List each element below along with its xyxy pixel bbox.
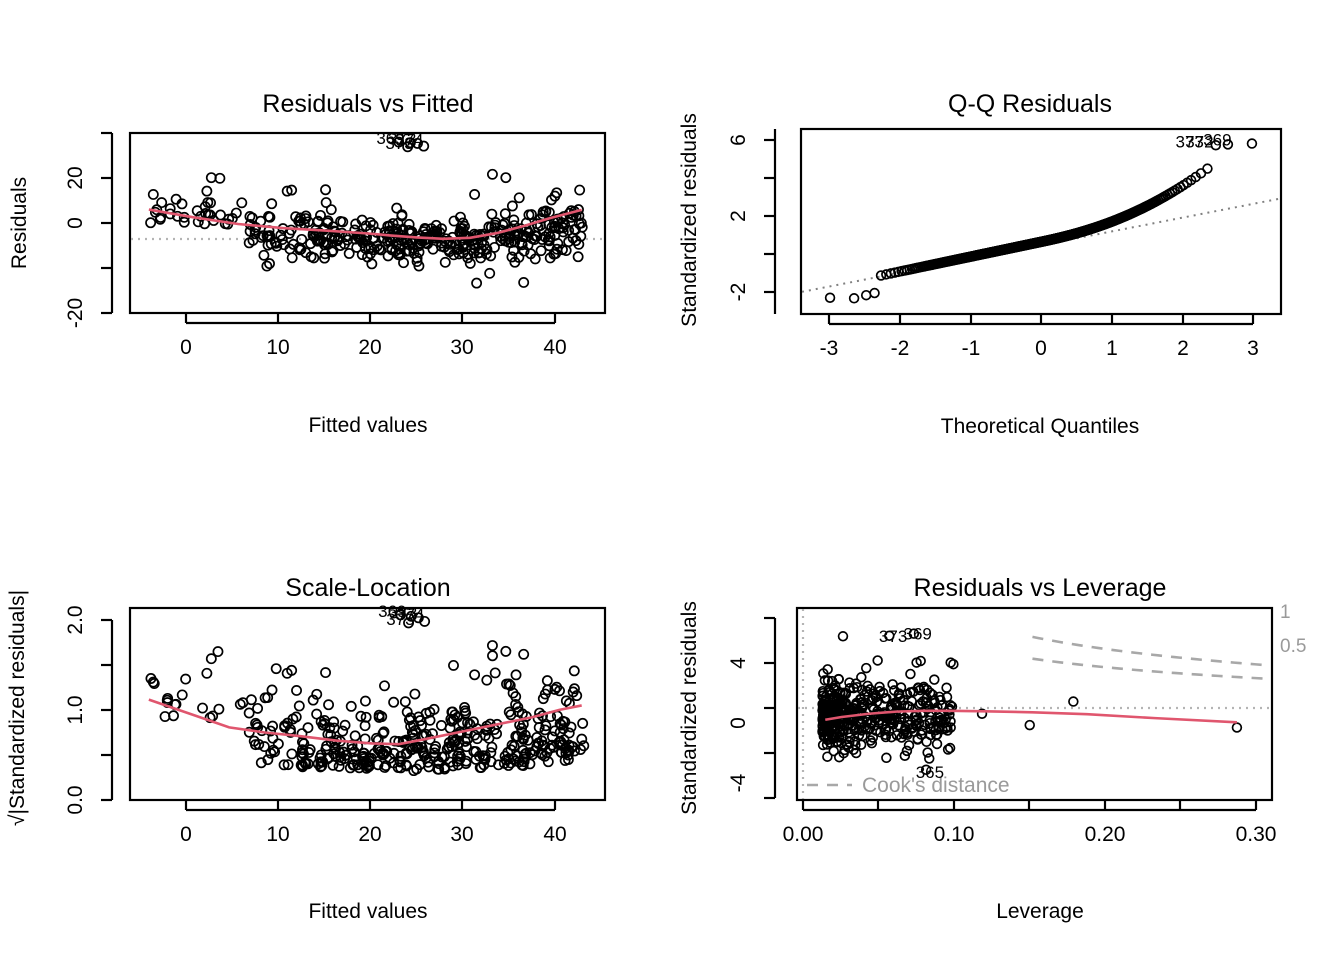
plot-title: Residuals vs Leverage	[914, 574, 1167, 602]
data-point	[888, 680, 897, 689]
data-point	[236, 700, 245, 709]
y-tick-label: 0	[64, 217, 87, 229]
data-point	[297, 235, 306, 244]
data-point	[401, 697, 410, 706]
data-point	[1069, 697, 1078, 706]
scale-location-svg: Scale-Location 2.0 1.0 0.0 √|Standardize…	[0, 540, 672, 960]
data-point	[146, 218, 155, 227]
point-labels: 369372374373	[376, 129, 423, 153]
data-point	[1248, 139, 1257, 148]
data-point	[488, 641, 497, 650]
x-axis-title: Fitted values	[308, 900, 427, 923]
x-tick-label: 3	[1247, 337, 1259, 360]
data-point	[505, 707, 514, 716]
point-label: 369	[904, 625, 932, 644]
data-point	[449, 661, 458, 670]
panel-scale-location: Scale-Location 2.0 1.0 0.0 √|Standardize…	[0, 540, 672, 960]
x-tick-label: 30	[450, 336, 473, 359]
data-point	[933, 740, 942, 749]
x-tick-label: 0.00	[783, 823, 824, 846]
data-point	[265, 259, 274, 268]
y-tick-label: 2	[727, 210, 750, 222]
data-point	[1025, 721, 1034, 730]
data-point	[501, 173, 510, 182]
data-point	[570, 666, 579, 675]
plot-title: Scale-Location	[285, 574, 450, 602]
x-tick-label: 10	[266, 823, 289, 846]
x-tick-label: 20	[358, 823, 381, 846]
data-point	[181, 674, 190, 683]
data-point	[262, 261, 271, 270]
y-tick-label: 0	[727, 717, 750, 729]
panel-residuals-vs-leverage: Residuals vs Leverage 4 0 -4 Standardize…	[672, 540, 1344, 960]
y-tick-label: 0.0	[64, 785, 87, 814]
point-labels: 373372369	[1176, 131, 1232, 152]
y-axis: 4 0 -4 Standardized residuals	[678, 601, 775, 815]
data-point	[882, 753, 891, 762]
panel-residuals-vs-fitted: Residuals vs Fitted 20 0 -20 Residuals	[0, 60, 672, 480]
x-tick-label: 0.30	[1236, 823, 1277, 846]
data-point	[862, 291, 871, 300]
x-tick-label: 0.10	[934, 823, 975, 846]
x-tick-label: 1	[1106, 337, 1118, 360]
data-point	[351, 731, 360, 740]
data-point	[389, 698, 398, 707]
y-tick-label: 6	[727, 134, 750, 146]
data-point	[314, 217, 323, 226]
data-point	[321, 185, 330, 194]
qq-residuals-svg: Q-Q Residuals 6 2 -2 Standardized residu…	[672, 60, 1344, 480]
data-point	[485, 269, 494, 278]
data-point	[905, 741, 914, 750]
data-point	[482, 676, 491, 685]
data-point	[1233, 723, 1242, 732]
data-point	[202, 186, 211, 195]
data-point	[149, 190, 158, 199]
data-point	[1203, 164, 1212, 173]
data-point	[906, 670, 915, 679]
data-point	[923, 748, 932, 757]
data-point	[574, 252, 583, 261]
x-axis: 0.00 0.10 0.20 0.30 Leverage	[783, 799, 1277, 923]
data-point	[295, 701, 304, 710]
y-tick-label: -2	[727, 283, 750, 302]
x-tick-label: 20	[358, 336, 381, 359]
data-point	[216, 210, 225, 219]
data-point	[873, 656, 882, 665]
data-point	[930, 675, 939, 684]
x-tick-label: 2	[1177, 337, 1189, 360]
data-point	[259, 251, 268, 260]
x-tick-label: 40	[543, 823, 566, 846]
data-point	[437, 721, 446, 730]
data-point	[826, 293, 835, 302]
data-point	[466, 259, 475, 268]
residuals-vs-fitted-svg: Residuals vs Fitted 20 0 -20 Residuals	[0, 60, 672, 480]
data-point	[870, 289, 879, 298]
data-point	[925, 754, 934, 763]
data-point	[519, 650, 528, 659]
data-point	[345, 249, 354, 258]
x-tick-label: 40	[543, 336, 566, 359]
data-point	[491, 668, 500, 677]
data-point	[157, 198, 166, 207]
y-axis-title: Standardized residuals	[678, 113, 701, 327]
data-point	[324, 700, 333, 709]
data-point	[515, 193, 524, 202]
data-point	[829, 747, 838, 756]
data-point	[441, 258, 450, 267]
x-tick-label: 30	[450, 823, 473, 846]
y-tick-label: -4	[727, 773, 750, 792]
x-axis: 0 10 20 30 40 Fitted values	[180, 312, 567, 437]
x-axis-title: Fitted values	[308, 414, 427, 437]
data-point	[428, 245, 437, 254]
point-label: 373	[385, 134, 413, 153]
plot-title: Residuals vs Fitted	[262, 90, 473, 118]
data-point	[347, 702, 356, 711]
y-axis: 6 2 -2 Standardized residuals	[678, 113, 775, 327]
data-point	[178, 690, 187, 699]
cook-distance-legend: Cook's distance	[807, 774, 1010, 797]
data-point	[850, 294, 859, 303]
data-point	[949, 660, 958, 669]
point-labels: 369372374373	[378, 602, 424, 629]
data-point	[578, 719, 587, 728]
data-point	[508, 201, 517, 210]
panel-qq-residuals: Q-Q Residuals 6 2 -2 Standardized residu…	[672, 60, 1344, 480]
data-point	[501, 209, 510, 218]
x-tick-label: -2	[891, 337, 910, 360]
data-point	[942, 683, 951, 692]
data-point	[198, 703, 207, 712]
data-point	[472, 279, 481, 288]
data-point	[501, 647, 510, 656]
data-point	[328, 761, 337, 770]
data-point	[287, 749, 296, 758]
diagnostic-plot-figure: Residuals vs Fitted 20 0 -20 Residuals	[0, 0, 1344, 960]
residuals-vs-leverage-svg: Residuals vs Leverage 4 0 -4 Standardize…	[672, 540, 1344, 960]
data-point	[470, 190, 479, 199]
data-point	[519, 278, 528, 287]
data-point	[367, 259, 376, 268]
data-point	[288, 253, 297, 262]
x-axis: 0 10 20 30 40 Fitted values	[180, 799, 567, 923]
data-point	[487, 210, 496, 219]
data-points	[146, 610, 588, 775]
data-point	[292, 686, 301, 695]
data-point	[207, 654, 216, 663]
data-point	[862, 664, 871, 673]
point-label: 365	[916, 763, 944, 782]
data-point	[488, 170, 497, 179]
y-tick-label: -20	[64, 298, 87, 328]
y-tick-label: 4	[727, 657, 750, 669]
x-tick-label: -3	[820, 337, 839, 360]
cook-contour-1	[1032, 637, 1266, 665]
data-point	[511, 670, 520, 679]
cook-contour-label-1: 1	[1280, 602, 1291, 623]
data-point	[237, 198, 246, 207]
y-axis-title: Residuals	[8, 177, 31, 269]
data-point	[267, 199, 276, 208]
y-axis: 20 0 -20 Residuals	[8, 133, 112, 328]
data-point	[245, 708, 254, 717]
x-axis-title: Theoretical Quantiles	[941, 415, 1139, 438]
data-point	[247, 695, 256, 704]
data-point	[327, 205, 336, 214]
y-tick-label: 1.0	[64, 695, 87, 724]
x-axis: -3 -2 -1 0 1 2 3 Theoretical Quantiles	[820, 313, 1259, 438]
y-tick-label: 20	[64, 166, 87, 189]
x-tick-label: 0.20	[1085, 823, 1126, 846]
x-tick-label: 0	[180, 336, 192, 359]
data-points	[146, 137, 587, 287]
data-points	[818, 629, 1241, 774]
data-point	[361, 696, 370, 705]
point-label: 369	[1203, 131, 1231, 150]
data-points	[826, 139, 1257, 303]
x-axis-title: Leverage	[996, 900, 1084, 923]
data-point	[340, 721, 349, 730]
data-point	[321, 668, 330, 677]
data-point	[543, 676, 552, 685]
x-tick-label: 0	[180, 823, 192, 846]
x-tick-label: 10	[266, 336, 289, 359]
y-axis-title: √|Standardized residuals|	[6, 590, 29, 826]
y-axis: 2.0 1.0 0.0 √|Standardized residuals|	[6, 590, 112, 826]
data-point	[303, 723, 312, 732]
data-point	[470, 670, 479, 679]
data-point	[839, 632, 848, 641]
data-point	[575, 185, 584, 194]
data-point	[202, 669, 211, 678]
cook-contour-label-0-5: 0.5	[1280, 636, 1306, 657]
data-point	[410, 689, 419, 698]
data-point	[509, 215, 518, 224]
data-point	[380, 681, 389, 690]
data-point	[272, 664, 281, 673]
point-label: 373	[386, 610, 414, 629]
data-point	[857, 673, 866, 682]
y-tick-label: 2.0	[64, 605, 87, 634]
data-point	[488, 651, 497, 660]
x-tick-label: 0	[1035, 337, 1047, 360]
x-tick-label: -1	[962, 337, 981, 360]
plot-frame	[801, 129, 1281, 314]
plot-title: Q-Q Residuals	[948, 90, 1112, 118]
y-axis-title: Standardized residuals	[678, 601, 701, 815]
